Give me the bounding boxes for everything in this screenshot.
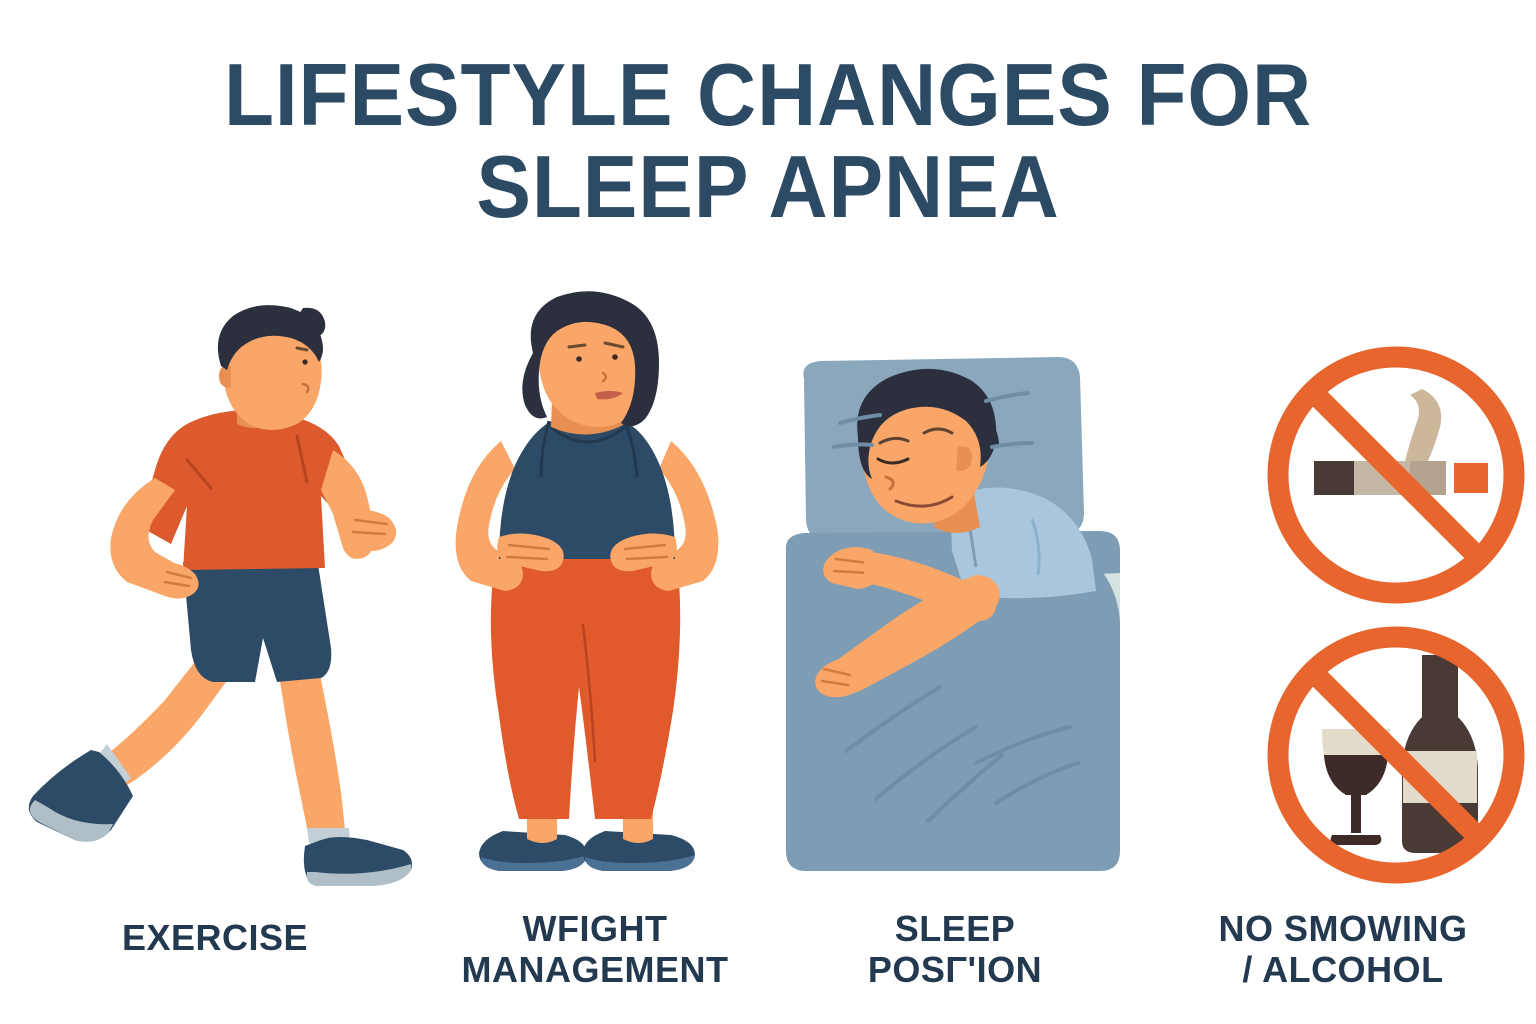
title-line-2: SLEEP APNEA (54, 144, 1482, 230)
standing-woman-illustration (430, 291, 760, 891)
no-smoking-icon (1256, 339, 1536, 609)
no-smoking-and-no-alcohol-icons (1150, 339, 1536, 891)
no-alcohol-icon (1256, 621, 1536, 891)
caption-exercise: EXERCISE (122, 918, 308, 958)
infographic-poster: LIFESTYLE CHANGES FOR SLEEP APNEA (0, 0, 1536, 1024)
column-no-smoking-alcohol: NO SMOWING / ALCOHOL (1150, 250, 1536, 1024)
caption-weight-management: WFIGHT MANAGEMENT (462, 909, 729, 990)
caption-sleep-position: SLEEP POSΓ'ION (868, 909, 1042, 990)
running-man-illustration (0, 300, 430, 900)
column-sleep-position: SLEEP POSΓ'ION (760, 250, 1150, 1024)
caption-no-smoking-alcohol: NO SMOWING / ALCOHOL (1219, 909, 1468, 990)
poster-title: LIFESTYLE CHANGES FOR SLEEP APNEA (0, 52, 1536, 230)
column-weight-management: WFIGHT MANAGEMENT (430, 250, 760, 1024)
sleeping-person-illustration (760, 351, 1150, 891)
column-exercise: EXERCISE (0, 250, 430, 1024)
illustration-columns: EXERCISE (0, 250, 1536, 1024)
title-line-1: LIFESTYLE CHANGES FOR (54, 52, 1482, 138)
